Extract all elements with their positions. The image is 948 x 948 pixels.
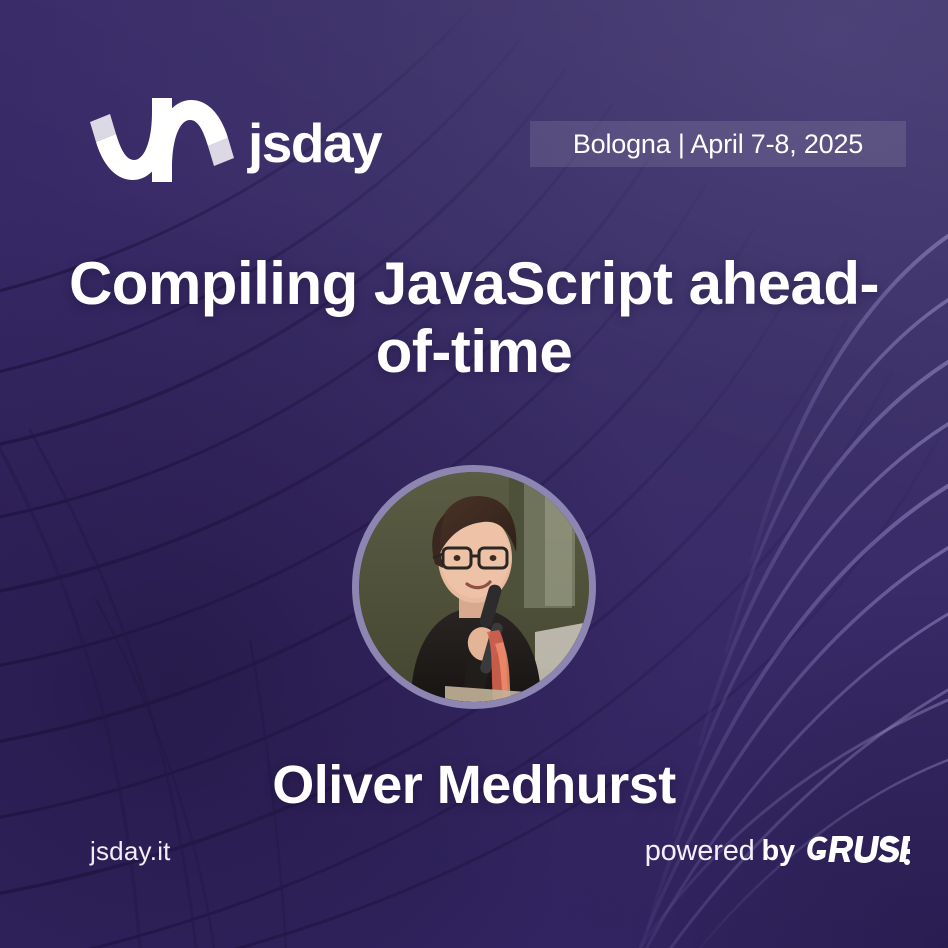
brand-wordmark: jsday	[248, 116, 381, 171]
powered-by-lockup: powered by	[645, 832, 910, 870]
jsday-speaker-card: jsday Bologna | April 7-8, 2025 Compilin…	[0, 0, 948, 948]
brand-lockup: jsday	[86, 92, 381, 188]
jsday-wave-logo-icon	[86, 92, 238, 188]
date-location-badge: Bologna | April 7-8, 2025	[530, 121, 906, 167]
talk-title: Compiling JavaScript ahead-of-time	[60, 250, 888, 387]
powered-by-word: by	[762, 835, 795, 868]
speaker-name: Oliver Medhurst	[0, 754, 948, 816]
grusp-logo-icon	[806, 832, 910, 870]
speaker-avatar	[352, 465, 596, 709]
speaker-portrait-photo	[359, 472, 589, 702]
powered-label: powered	[645, 835, 755, 868]
site-url[interactable]: jsday.it	[90, 836, 171, 867]
date-location-text: Bologna | April 7-8, 2025	[573, 129, 863, 160]
